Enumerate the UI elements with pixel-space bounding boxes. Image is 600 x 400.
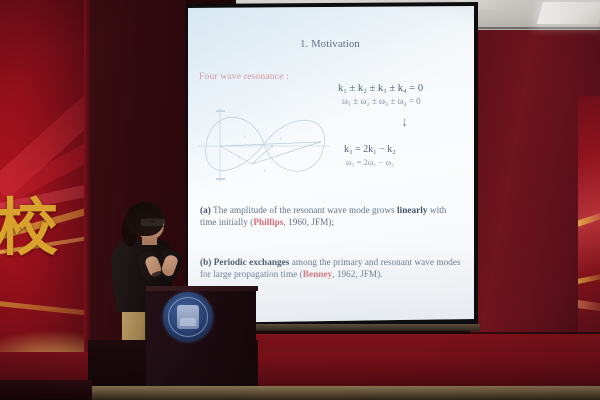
resonance-vector-diagram: kk kk xyxy=(194,102,334,186)
banner-gold-ray xyxy=(578,210,600,228)
point-b-marker: (b) xyxy=(200,257,211,267)
seal-inner-mark xyxy=(177,305,199,329)
point-a-marker: (a) xyxy=(200,205,211,215)
down-arrow-icon: ↓ xyxy=(401,116,408,130)
equation-frequency: ω₁ ± ω₂ ± ω₃ ± ω₄ = 0 xyxy=(342,95,421,107)
ceiling-light-panel xyxy=(537,2,600,24)
floor-strip-left xyxy=(0,380,92,400)
slide: 1. Motivation Four wave resonance : k₁ ±… xyxy=(186,6,474,323)
lecture-hall-photo: 校 1. Motivation Four wave resonance : k₁… xyxy=(0,0,600,400)
slide-section-label: Four wave resonance : xyxy=(199,72,289,82)
point-a-emphasis: linearly xyxy=(397,205,428,215)
university-seal-icon xyxy=(163,292,213,342)
banner-gold-ray xyxy=(578,272,600,285)
equation-frequency-result: ω₃ = 2ω₁ − ω₂ xyxy=(346,157,394,168)
banner-gold-ray xyxy=(578,299,600,312)
point-b-emphasis: Periodic exchanges xyxy=(211,257,289,267)
equation-wavenumber-result: k₃ = 2k₁ − k₂ xyxy=(344,144,396,157)
banner-gold-ray xyxy=(0,300,90,323)
svg-text:k: k xyxy=(244,134,246,139)
left-red-banner: 校 xyxy=(0,0,90,352)
glasses-icon xyxy=(140,218,166,227)
banner-character: 校 xyxy=(0,196,70,262)
right-red-banner xyxy=(578,96,600,354)
slide-point-a: (a) The amplitude of the resonant wave m… xyxy=(200,204,462,229)
banner-glow xyxy=(0,330,90,352)
point-a-reference: Phillips xyxy=(253,217,283,227)
point-b-text-after: , 1962, JFM). xyxy=(332,269,382,279)
svg-text:k: k xyxy=(238,154,240,159)
svg-text:k: k xyxy=(264,168,266,173)
banner-edge xyxy=(84,0,91,352)
point-a-text-before: The amplitude of the resonant wave mode … xyxy=(211,205,397,215)
point-a-text-after: , 1960, JFM); xyxy=(283,217,334,227)
equation-wavenumber: k₁ ± k₂ ± k₃ ± k₄ = 0 xyxy=(338,82,423,95)
svg-text:k: k xyxy=(280,136,282,141)
point-b-reference: Benney xyxy=(303,269,332,279)
slide-point-b: (b) Periodic exchanges among the primary… xyxy=(200,256,462,281)
slide-title: 1. Motivation xyxy=(186,39,474,50)
podium-top-edge xyxy=(146,286,258,291)
projection-screen: 1. Motivation Four wave resonance : k₁ ±… xyxy=(186,6,474,323)
